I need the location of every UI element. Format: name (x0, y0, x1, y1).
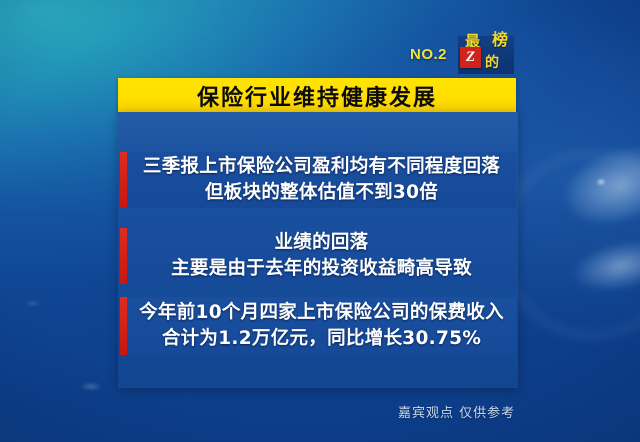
bullet-line: 但板块的整体估值不到30倍 (205, 180, 438, 206)
bullet-line: 今年前10个月四家上市保险公司的保费收入 (139, 300, 504, 326)
bullet-line: 业绩的回落 (274, 230, 368, 256)
bullet-block: 业绩的回落 主要是由于去年的投资收益畸高导致 (120, 228, 516, 284)
bullet-line: 主要是由于去年的投资收益畸高导致 (171, 256, 472, 282)
accent-bar-icon (120, 228, 127, 284)
broadcast-graphic-screen: NO.2 最 榜 的 Z 保险行业维持健康发展 三季报上市保险公司盈利均有不同程… (0, 0, 640, 442)
logo-mark-z: Z (460, 47, 481, 68)
page-title: 保险行业维持健康发展 (197, 80, 437, 112)
bullet-line: 合计为1.2万亿元，同比增长30.75% (162, 326, 481, 352)
accent-bar-icon (120, 297, 127, 355)
logo-char-bang: 榜 (492, 32, 508, 48)
bullet-block-body: 三季报上市保险公司盈利均有不同程度回落 但板块的整体估值不到30倍 (127, 152, 516, 208)
headline-banner: 保险行业维持健康发展 (118, 78, 516, 114)
disclaimer-text: 嘉宾观点 仅供参考 (398, 402, 515, 421)
accent-bar-icon (120, 152, 127, 208)
logo-char-de: 的 (485, 56, 499, 70)
bullet-block: 今年前10个月四家上市保险公司的保费收入 合计为1.2万亿元，同比增长30.75… (120, 297, 516, 355)
bullet-block: 三季报上市保险公司盈利均有不同程度回落 但板块的整体估值不到30倍 (120, 152, 516, 208)
bullet-line: 三季报上市保险公司盈利均有不同程度回落 (143, 154, 500, 180)
bullet-block-body: 业绩的回落 主要是由于去年的投资收益畸高导致 (127, 228, 516, 284)
rank-label: NO.2 (410, 46, 447, 63)
bullet-block-body: 今年前10个月四家上市保险公司的保费收入 合计为1.2万亿元，同比增长30.75… (127, 297, 516, 355)
